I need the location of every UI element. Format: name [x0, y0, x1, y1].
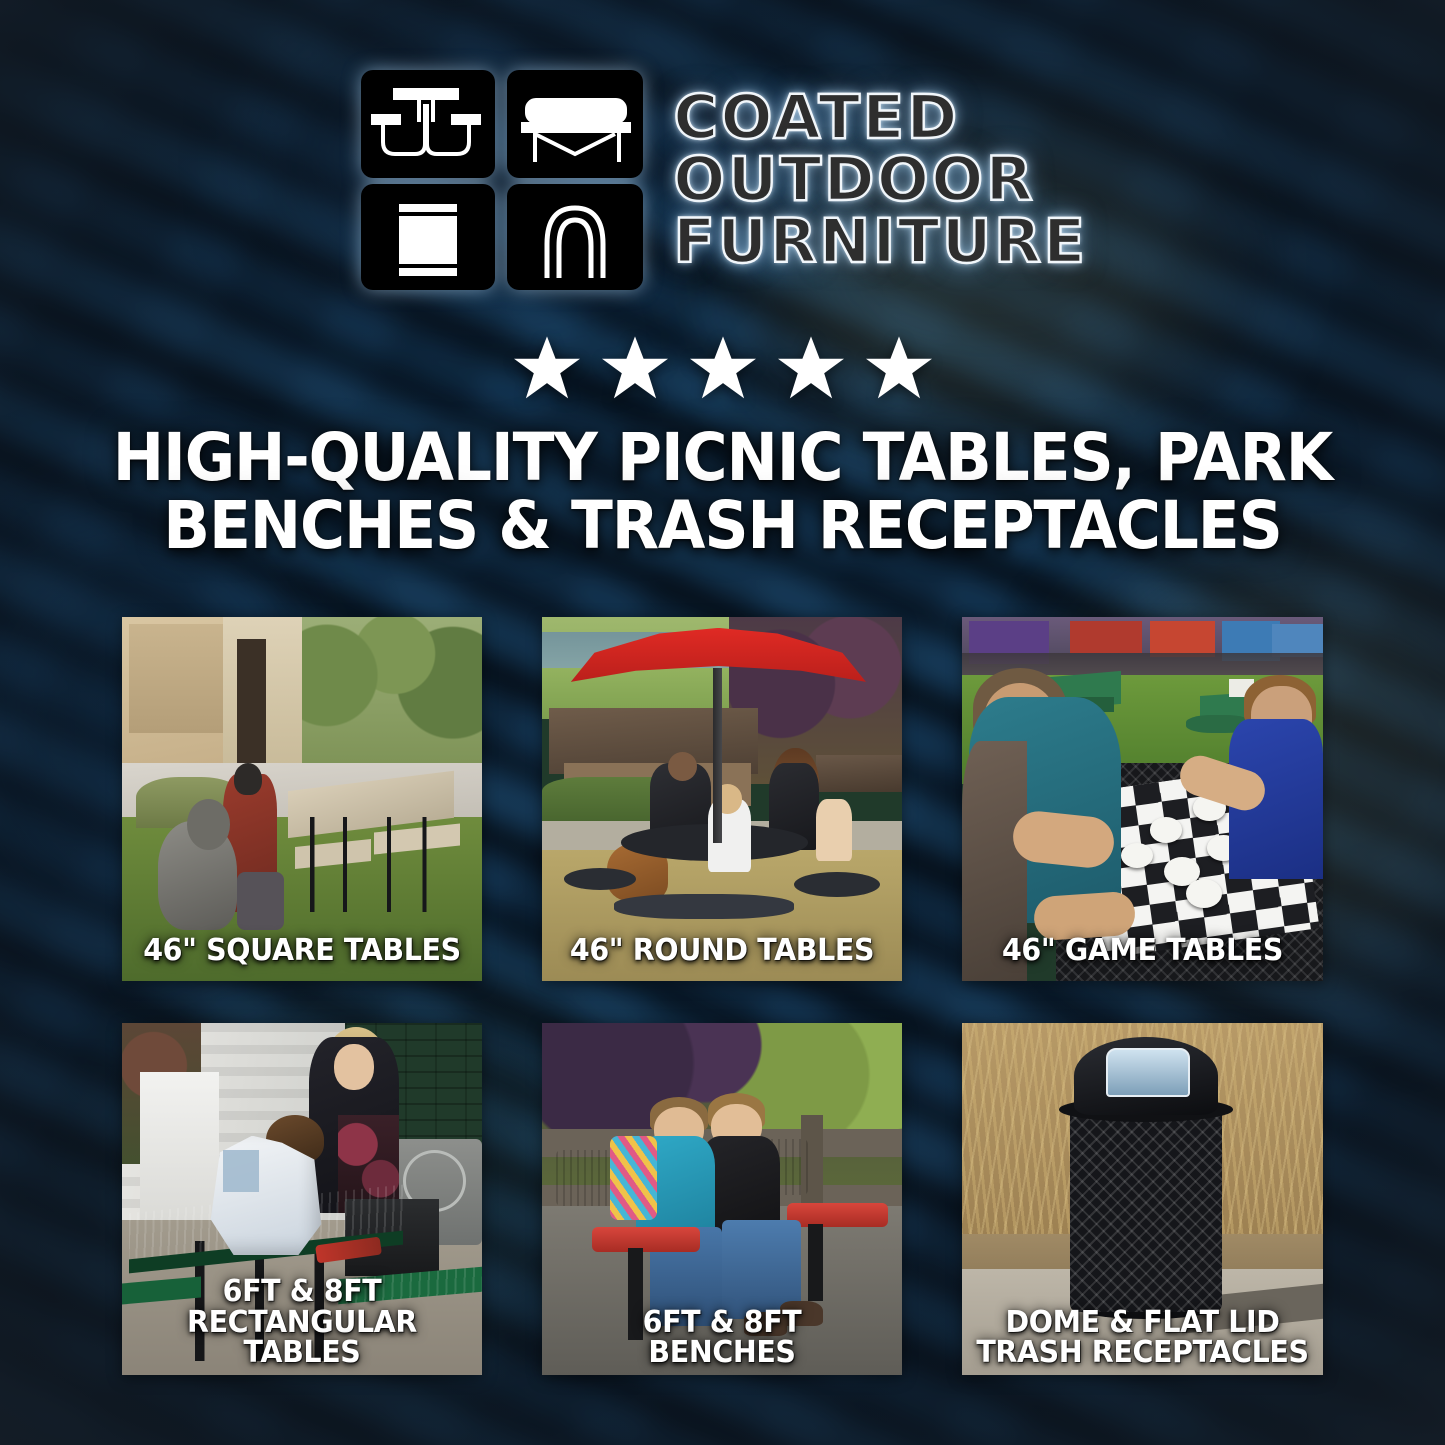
- rating-stars: [0, 332, 1445, 404]
- gallery-tile-trash-receptacles[interactable]: DOME & FLAT LID TRASH RECEPTACLES: [962, 1023, 1323, 1375]
- tile-caption: DOME & FLAT LID TRASH RECEPTACLES: [971, 1308, 1314, 1369]
- star-icon: [778, 335, 844, 401]
- star-icon: [602, 335, 668, 401]
- logo-line-1: COATED: [673, 88, 1087, 148]
- brand-logo: COATED OUTDOOR FURNITURE: [0, 60, 1445, 300]
- tile-caption: 46" SQUARE TABLES: [131, 936, 473, 967]
- gallery-tile-square-tables[interactable]: 46" SQUARE TABLES: [122, 617, 482, 981]
- logo-line-3: FURNITURE: [673, 212, 1087, 272]
- tile-caption: 6FT & 8FT RECTANGULAR TABLES: [131, 1277, 473, 1369]
- tile-caption: 46" GAME TABLES: [971, 936, 1314, 967]
- star-icon: [690, 335, 756, 401]
- gallery-tile-benches[interactable]: 6FT & 8FT BENCHES: [542, 1023, 902, 1375]
- star-icon: [514, 335, 580, 401]
- page-title: HIGH-QUALITY PICNIC TABLES, PARK BENCHES…: [106, 424, 1338, 560]
- photo-square-tables: [122, 617, 482, 981]
- gallery-tile-rectangular-tables[interactable]: 6FT & 8FT RECTANGULAR TABLES: [122, 1023, 482, 1375]
- logo-mark-icon: [357, 66, 647, 294]
- tile-caption: 6FT & 8FT BENCHES: [551, 1308, 893, 1369]
- product-gallery: 46" SQUARE TABLES 46" ROUND TABLES: [122, 617, 1323, 1375]
- gallery-tile-round-tables[interactable]: 46" ROUND TABLES: [542, 617, 902, 981]
- tile-caption: 46" ROUND TABLES: [551, 936, 893, 967]
- gallery-tile-game-tables[interactable]: 46" GAME TABLES: [962, 617, 1323, 981]
- promo-poster: COATED OUTDOOR FURNITURE HIGH-QUALITY PI…: [0, 0, 1445, 1445]
- star-icon: [866, 335, 932, 401]
- photo-game-tables: [962, 617, 1323, 981]
- logo-line-2: OUTDOOR: [673, 150, 1087, 210]
- logo-wordmark: COATED OUTDOOR FURNITURE: [673, 88, 1087, 271]
- photo-round-tables: [542, 617, 902, 981]
